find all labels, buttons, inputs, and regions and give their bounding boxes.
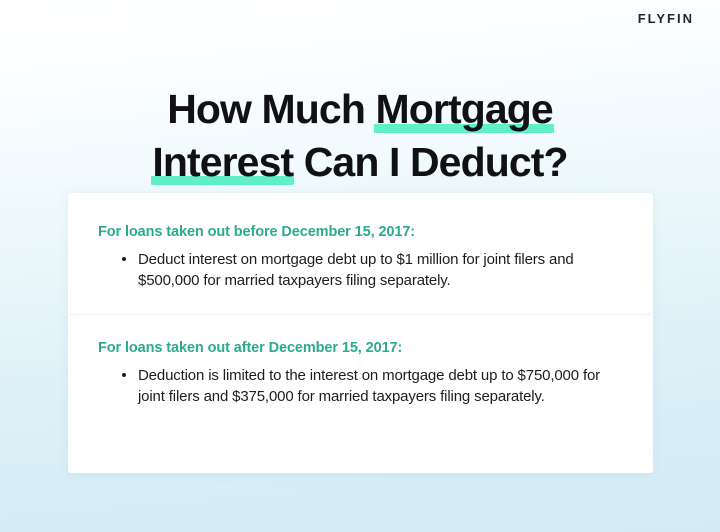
section-before-2017: For loans taken out before December 15, … [68, 193, 653, 314]
bullet-list-before: Deduct interest on mortgage debt up to $… [98, 249, 623, 292]
flyfin-logo: FLYFIN [638, 12, 694, 25]
headline-line-2: Interest Can I Deduct? [0, 136, 720, 188]
content-card: For loans taken out before December 15, … [68, 193, 653, 473]
section-heading-after: For loans taken out after December 15, 2… [98, 340, 623, 356]
headline-highlight-interest: Interest [152, 136, 293, 188]
infographic-slide: FLYFIN How Much Mortgage Interest Can I … [0, 0, 720, 532]
page-title: How Much Mortgage Interest Can I Deduct? [0, 83, 720, 188]
section-heading-before: For loans taken out before December 15, … [98, 224, 623, 240]
headline-highlight-mortgage: Mortgage [375, 83, 552, 135]
list-item: Deduction is limited to the interest on … [122, 365, 623, 408]
bullet-list-after: Deduction is limited to the interest on … [98, 365, 623, 408]
headline-line-1: How Much Mortgage [0, 83, 720, 135]
section-after-2017: For loans taken out after December 15, 2… [68, 315, 653, 428]
headline-text-plain: How Much [167, 86, 375, 132]
list-item: Deduct interest on mortgage debt up to $… [122, 249, 623, 292]
headline-text-plain-2: Can I Deduct? [293, 139, 567, 185]
